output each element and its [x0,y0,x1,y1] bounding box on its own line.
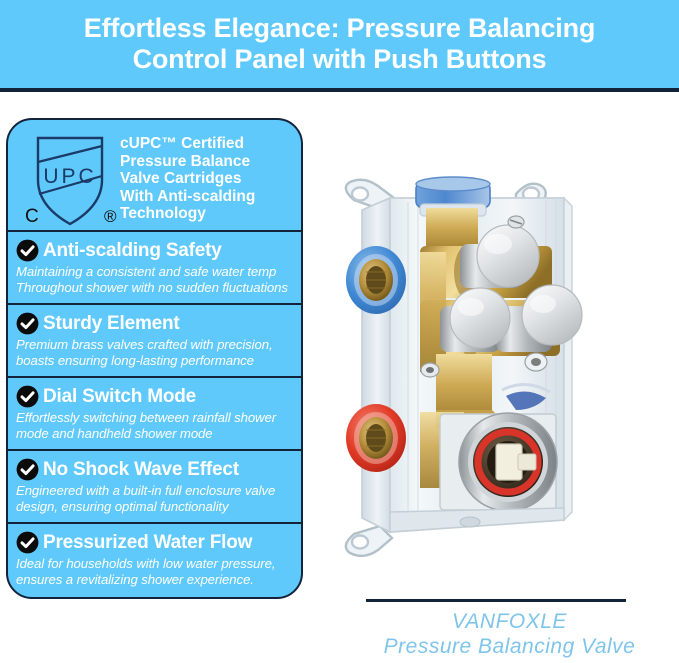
push-button-top [477,225,539,287]
feature-title: No Shock Wave Effect [43,459,239,481]
certification-row: UPC C ® cUPC™ Certified Pressure Balance… [8,120,301,230]
feature-title: Anti-scalding Safety [43,240,222,262]
feature-item: No Shock Wave Effect Engineered with a b… [8,449,301,522]
check-circle-icon [16,458,39,481]
brand-caption: VANFOXLE Pressure Balancing Valve [340,609,679,659]
feature-title: Dial Switch Mode [43,386,196,408]
feature-description-line1: Ideal for households with low water pres… [16,556,291,572]
valve-cartridge-housing [440,413,557,511]
cold-water-port [346,246,406,314]
page-title-line1: Effortless Elegance: Pressure Balancing [84,13,595,43]
feature-description: Premium brass valves crafted with precis… [16,337,291,368]
feature-description-line1: Effortlessly switching between rainfall … [16,410,291,426]
feature-header: Anti-scalding Safety [16,239,291,262]
check-circle-icon [16,531,39,554]
check-circle-icon [16,385,39,408]
certification-line-1: cUPC™ Certified [120,135,255,153]
certification-line-2: Pressure Balance [120,153,255,171]
header-banner: Effortless Elegance: Pressure Balancing … [0,0,679,88]
check-circle-icon [16,312,39,335]
brand-divider [366,599,626,602]
brand-product-name: Pressure Balancing Valve [340,634,679,659]
feature-header: Pressurized Water Flow [16,531,291,554]
certification-line-5: Technology [120,205,255,223]
feature-description-line1: Premium brass valves crafted with precis… [16,337,291,353]
feature-description-line2: boasts ensuring long-lasting performance [16,353,291,369]
hot-water-port [346,404,406,472]
certification-text: cUPC™ Certified Pressure Balance Valve C… [120,132,255,223]
page-title: Effortless Elegance: Pressure Balancing … [56,13,623,75]
svg-text:UPC: UPC [43,165,96,188]
feature-description: Effortlessly switching between rainfall … [16,410,291,441]
feature-description-line2: Throughout shower with no sudden fluctua… [16,280,291,296]
feature-header: No Shock Wave Effect [16,458,291,481]
feature-description-line2: mode and handheld shower mode [16,426,291,442]
features-panel: UPC C ® cUPC™ Certified Pressure Balance… [6,118,303,599]
feature-title: Pressurized Water Flow [43,532,252,554]
feature-item: Sturdy Element Premium brass valves craf… [8,303,301,376]
feature-description-line2: ensures a revitalizing shower experience… [16,572,291,588]
feature-item: Anti-scalding Safety Maintaining a consi… [8,230,301,303]
header-divider [0,88,679,92]
brand-name: VANFOXLE [452,610,567,633]
feature-item: Dial Switch Mode Effortlessly switching … [8,376,301,449]
certification-line-4: With Anti-scalding [120,188,255,206]
push-button-right [522,285,582,345]
upc-shield-icon: UPC C ® [16,132,120,228]
svg-text:C: C [25,206,39,227]
certification-line-3: Valve Cartridges [120,170,255,188]
feature-title: Sturdy Element [43,313,180,335]
feature-description-line2: design, ensuring optimal functionality [16,499,291,515]
feature-description-line1: Engineered with a built-in full enclosur… [16,483,291,499]
feature-description: Maintaining a consistent and safe water … [16,264,291,295]
feature-item: Pressurized Water Flow Ideal for househo… [8,522,301,595]
product-image [320,160,679,580]
feature-description-line1: Maintaining a consistent and safe water … [16,264,291,280]
feature-description: Engineered with a built-in full enclosur… [16,483,291,514]
svg-text:®: ® [104,207,117,226]
feature-description: Ideal for households with low water pres… [16,556,291,587]
page-title-line2: Control Panel with Push Buttons [84,44,595,75]
feature-header: Sturdy Element [16,312,291,335]
feature-header: Dial Switch Mode [16,385,291,408]
check-circle-icon [16,239,39,262]
push-button-middle [450,288,510,348]
